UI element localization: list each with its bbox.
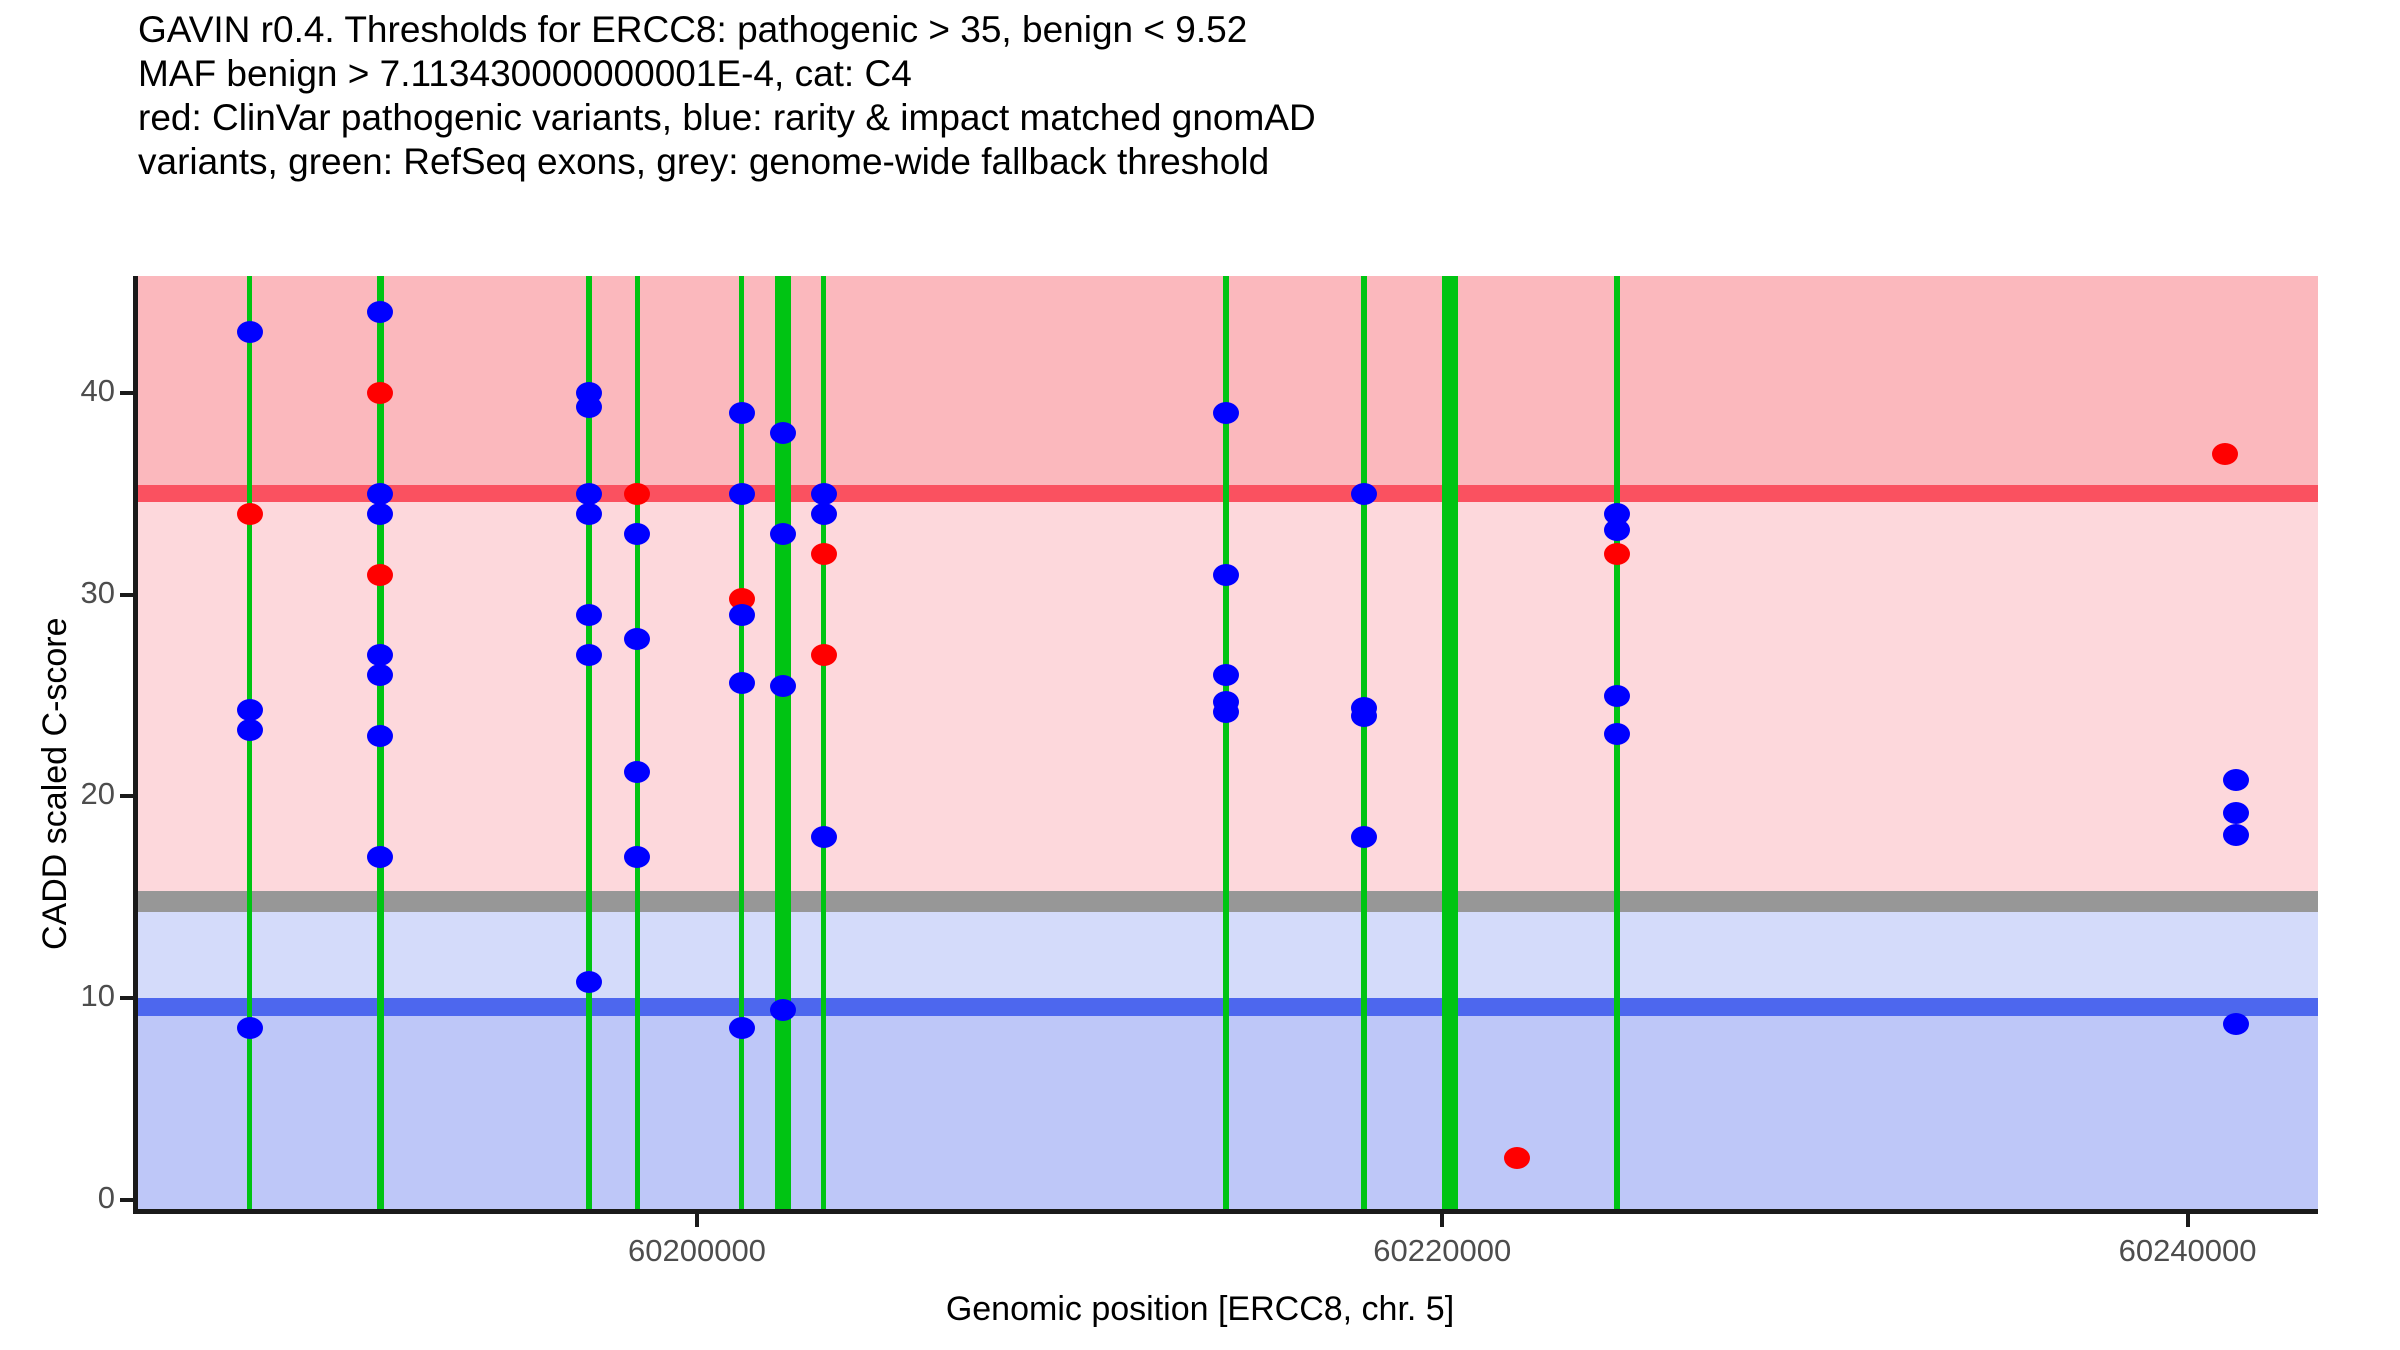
gnomad-variant-point	[367, 725, 393, 747]
y-axis-title-wrap: CADD scaled C-score	[36, 0, 82, 1212]
chart-root: GAVIN r0.4. Thresholds for ERCC8: pathog…	[0, 0, 2400, 1350]
y-axis-line	[133, 276, 138, 1212]
gnomad-variant-point	[1213, 701, 1239, 723]
y-axis-tick	[120, 391, 133, 395]
y-axis-tick-label: 30	[81, 575, 115, 611]
y-axis-tick	[120, 593, 133, 597]
y-axis-title: CADD scaled C-score	[36, 617, 75, 950]
gnomad-variant-point	[770, 999, 796, 1021]
x-axis-tick	[695, 1214, 699, 1227]
gnomad-variant-point	[1351, 826, 1377, 848]
y-axis-tick-label: 20	[81, 776, 115, 812]
gnomad-variant-point	[576, 644, 602, 666]
gnomad-variant-point	[811, 503, 837, 525]
gnomad-variant-point	[811, 826, 837, 848]
title-line-2: MAF benign > 7.113430000000001E-4, cat: …	[138, 52, 2318, 96]
gnomad-variant-point	[770, 523, 796, 545]
gnomad-variant-point	[367, 483, 393, 505]
clinvar-variant-point	[624, 483, 650, 505]
x-axis-tick-label: 60240000	[2119, 1233, 2257, 1269]
refseq-exon-line	[775, 276, 791, 1212]
gnomad-variant-point	[729, 604, 755, 626]
plot-panel	[138, 276, 2318, 1212]
gnomad-variant-point	[770, 675, 796, 697]
gnomad-variant-point	[729, 402, 755, 424]
x-axis-tick	[1440, 1214, 1444, 1227]
x-axis-tick-label: 60220000	[1373, 1233, 1511, 1269]
clinvar-variant-point	[367, 564, 393, 586]
gnomad-variant-point	[1351, 705, 1377, 727]
x-axis-tick	[2186, 1214, 2190, 1227]
refseq-exon-line	[821, 276, 826, 1212]
gnomad-variant-point	[1604, 685, 1630, 707]
gnomad-variant-point	[2223, 802, 2249, 824]
clinvar-variant-point	[237, 503, 263, 525]
y-axis-tick-label: 0	[98, 1180, 115, 1216]
chart-title-block: GAVIN r0.4. Thresholds for ERCC8: pathog…	[138, 8, 2318, 184]
title-line-4: variants, green: RefSeq exons, grey: gen…	[138, 140, 2318, 184]
refseq-exon-line	[247, 276, 252, 1212]
clinvar-variant-point	[2212, 443, 2238, 465]
x-axis-line	[133, 1209, 2318, 1214]
gnomad-variant-point	[576, 483, 602, 505]
gnomad-variant-point	[2223, 824, 2249, 846]
clinvar-variant-point	[1504, 1147, 1530, 1169]
gnomad-variant-point	[237, 719, 263, 741]
gnomad-variant-point	[729, 483, 755, 505]
gnomad-variant-point	[811, 483, 837, 505]
gnomad-variant-point	[367, 846, 393, 868]
y-axis-tick-label: 40	[81, 373, 115, 409]
gnomad-variant-point	[770, 422, 796, 444]
gnomad-variant-point	[576, 503, 602, 525]
clinvar-variant-point	[811, 543, 837, 565]
refseq-exon-line	[1361, 276, 1367, 1212]
y-axis-tick	[120, 794, 133, 798]
y-axis-tick-label: 10	[81, 978, 115, 1014]
title-line-1: GAVIN r0.4. Thresholds for ERCC8: pathog…	[138, 8, 2318, 52]
y-axis-tick	[120, 1198, 133, 1202]
title-line-3: red: ClinVar pathogenic variants, blue: …	[138, 96, 2318, 140]
clinvar-variant-point	[811, 644, 837, 666]
gnomad-variant-point	[1213, 564, 1239, 586]
refseq-exon-line	[1442, 276, 1458, 1212]
refseq-exon-line	[635, 276, 640, 1212]
gnomad-variant-point	[1351, 483, 1377, 505]
x-axis-tick-label: 60200000	[628, 1233, 766, 1269]
gnomad-variant-point	[576, 396, 602, 418]
gnomad-variant-point	[237, 699, 263, 721]
gnomad-variant-point	[576, 971, 602, 993]
gnomad-variant-point	[576, 604, 602, 626]
y-axis-tick	[120, 996, 133, 1000]
gnomad-variant-point	[729, 1017, 755, 1039]
x-axis-title: Genomic position [ERCC8, chr. 5]	[0, 1290, 2400, 1329]
